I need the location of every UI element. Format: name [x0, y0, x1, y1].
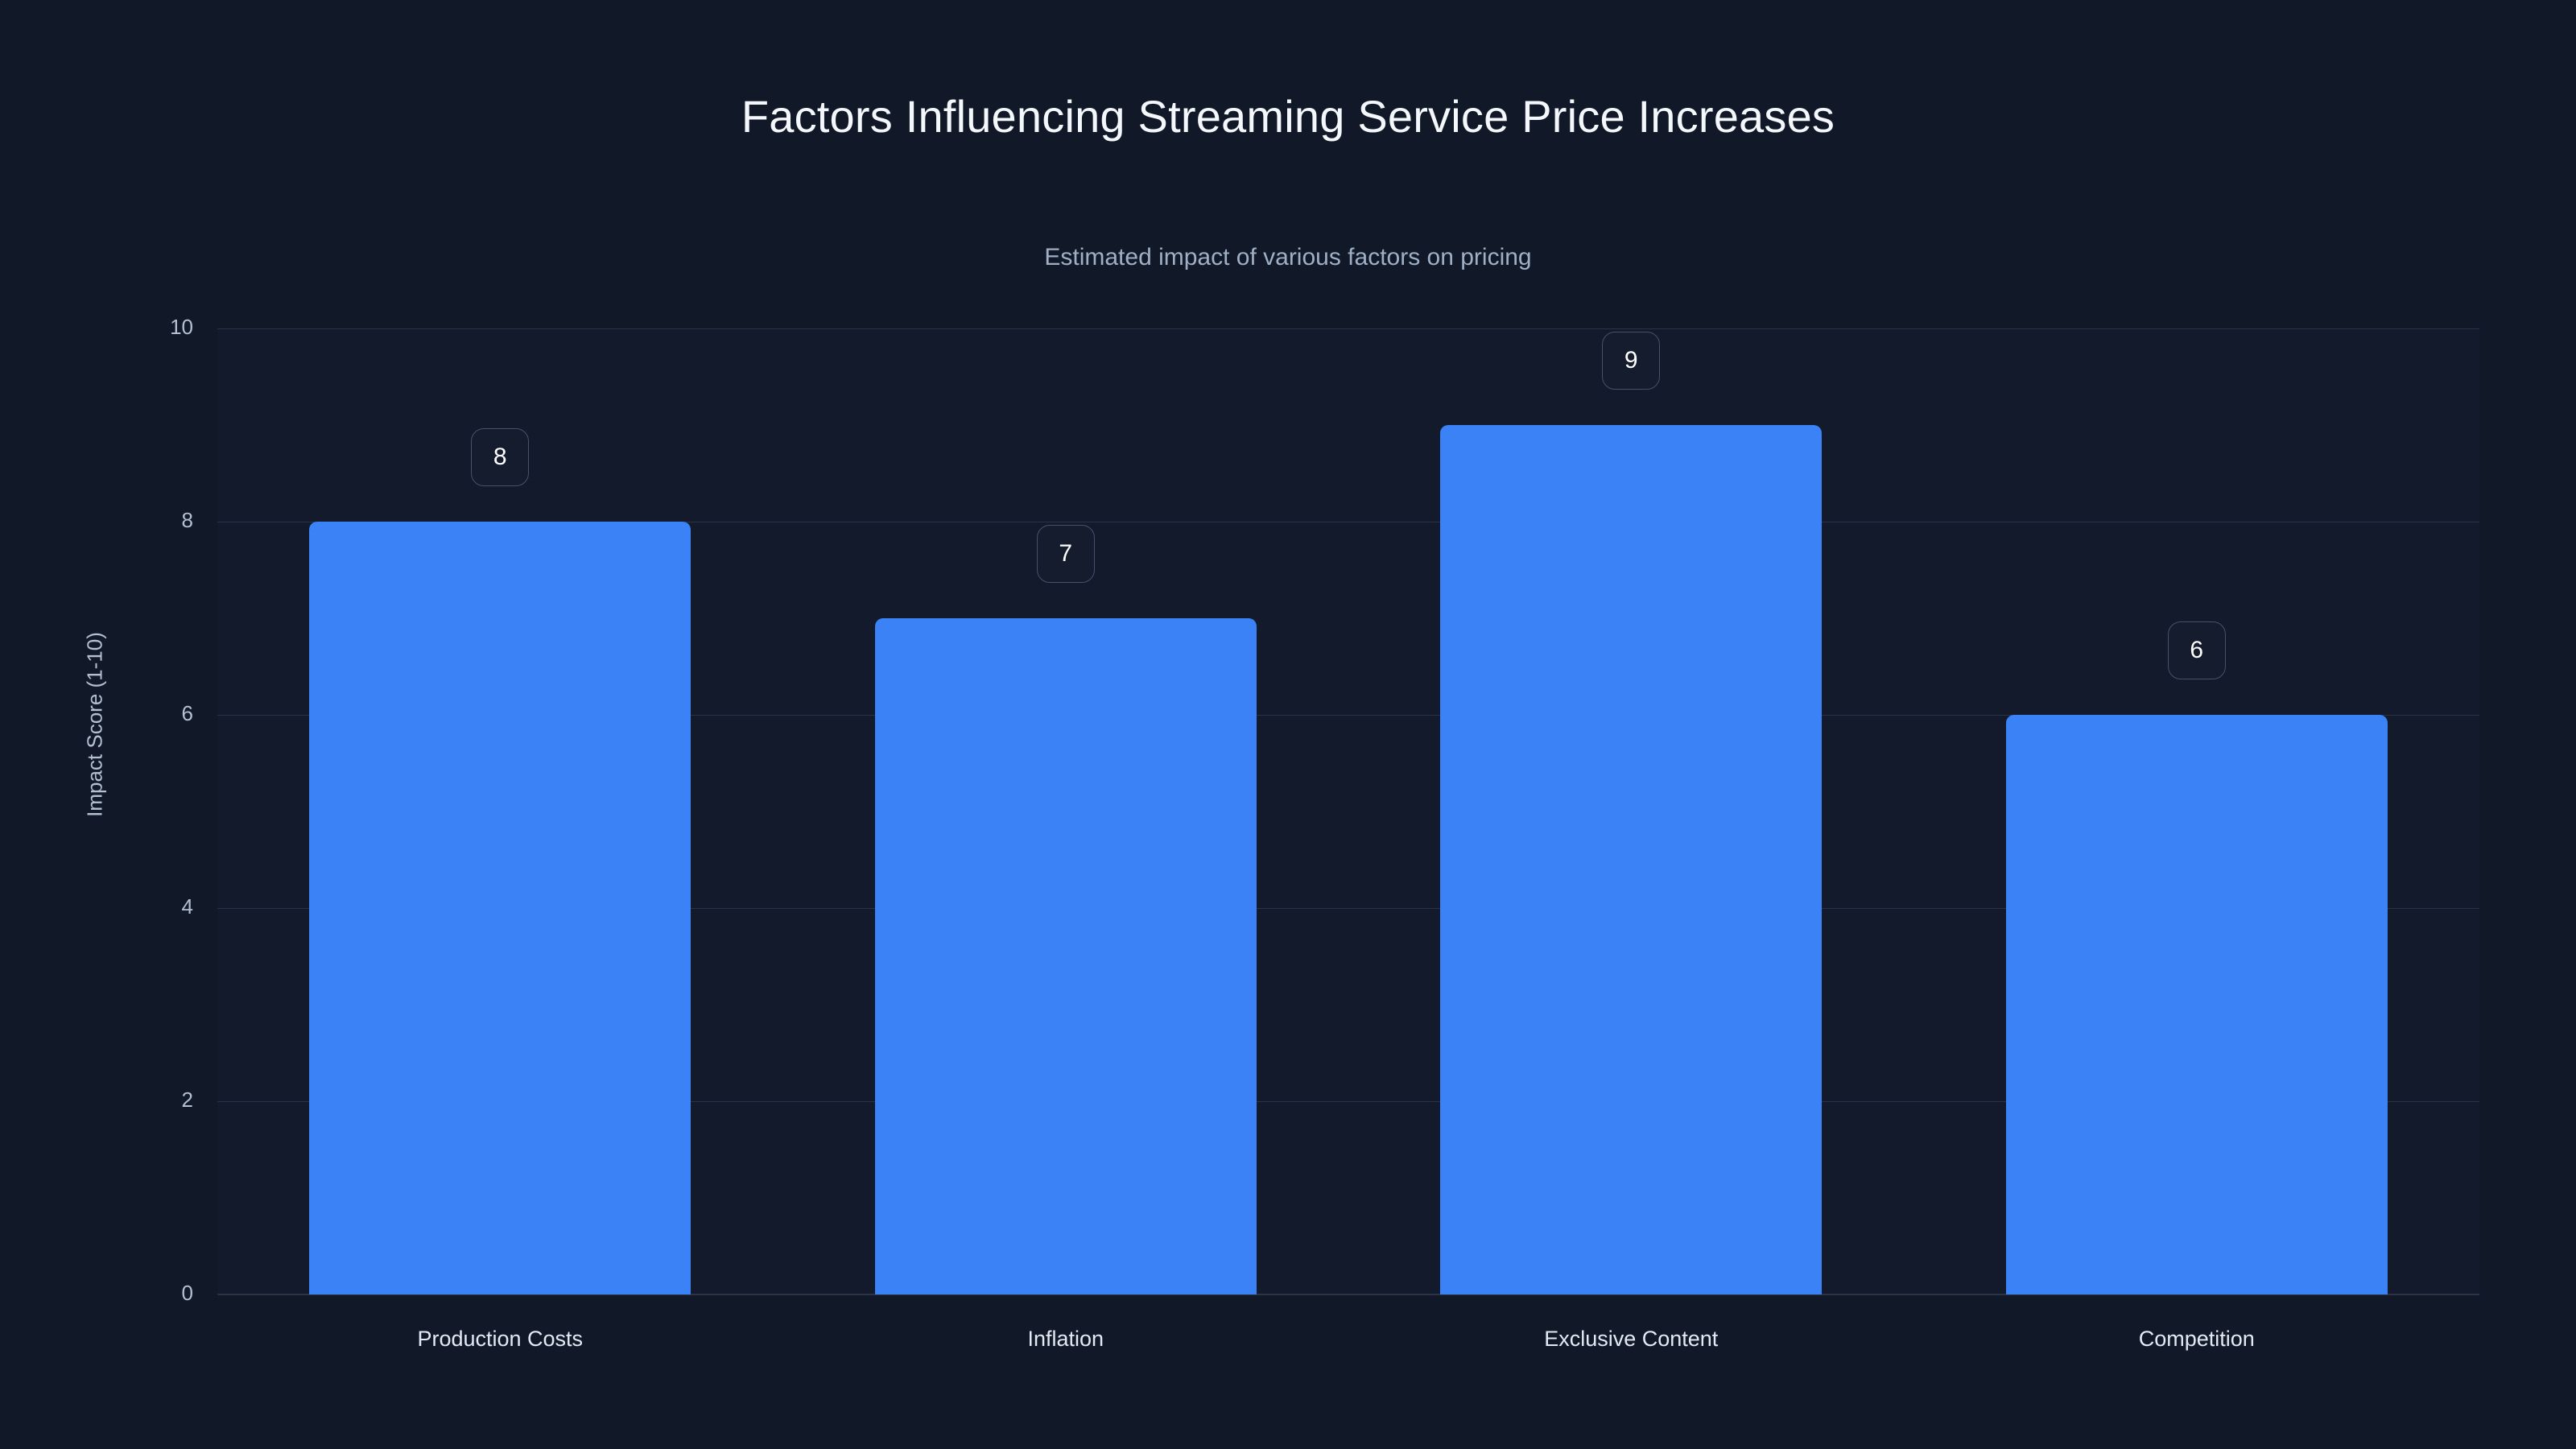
chart-subtitle: Estimated impact of various factors on p… — [0, 244, 2576, 271]
bar[interactable] — [2006, 715, 2388, 1294]
gridline — [217, 328, 2479, 329]
y-axis-tick-label: 0 — [145, 1281, 193, 1306]
y-axis-tick-label: 8 — [145, 508, 193, 533]
bar-value-badge: 6 — [2168, 621, 2226, 679]
bar-value-badge: 9 — [1602, 332, 1660, 390]
y-axis-tick-label: 6 — [145, 701, 193, 726]
x-axis-tick-label: Exclusive Content — [1544, 1327, 1718, 1352]
bar[interactable] — [875, 618, 1257, 1294]
y-axis-tick-label: 2 — [145, 1088, 193, 1113]
y-axis-tick-label: 10 — [145, 315, 193, 340]
x-axis-tick-label: Competition — [2139, 1327, 2255, 1352]
bar[interactable] — [309, 522, 691, 1294]
bar-value-badge: 8 — [471, 428, 529, 486]
y-axis-title: Impact Score (1-10) — [83, 632, 108, 817]
bar-value-badge: 7 — [1037, 525, 1095, 583]
y-axis-tick-label: 4 — [145, 894, 193, 919]
chart-title: Factors Influencing Streaming Service Pr… — [0, 90, 2576, 142]
bar-chart: Factors Influencing Streaming Service Pr… — [0, 0, 2576, 1449]
bar[interactable] — [1440, 425, 1822, 1294]
gridline — [217, 1294, 2479, 1295]
x-axis-tick-label: Inflation — [1027, 1327, 1104, 1352]
x-axis-tick-label: Production Costs — [417, 1327, 583, 1352]
